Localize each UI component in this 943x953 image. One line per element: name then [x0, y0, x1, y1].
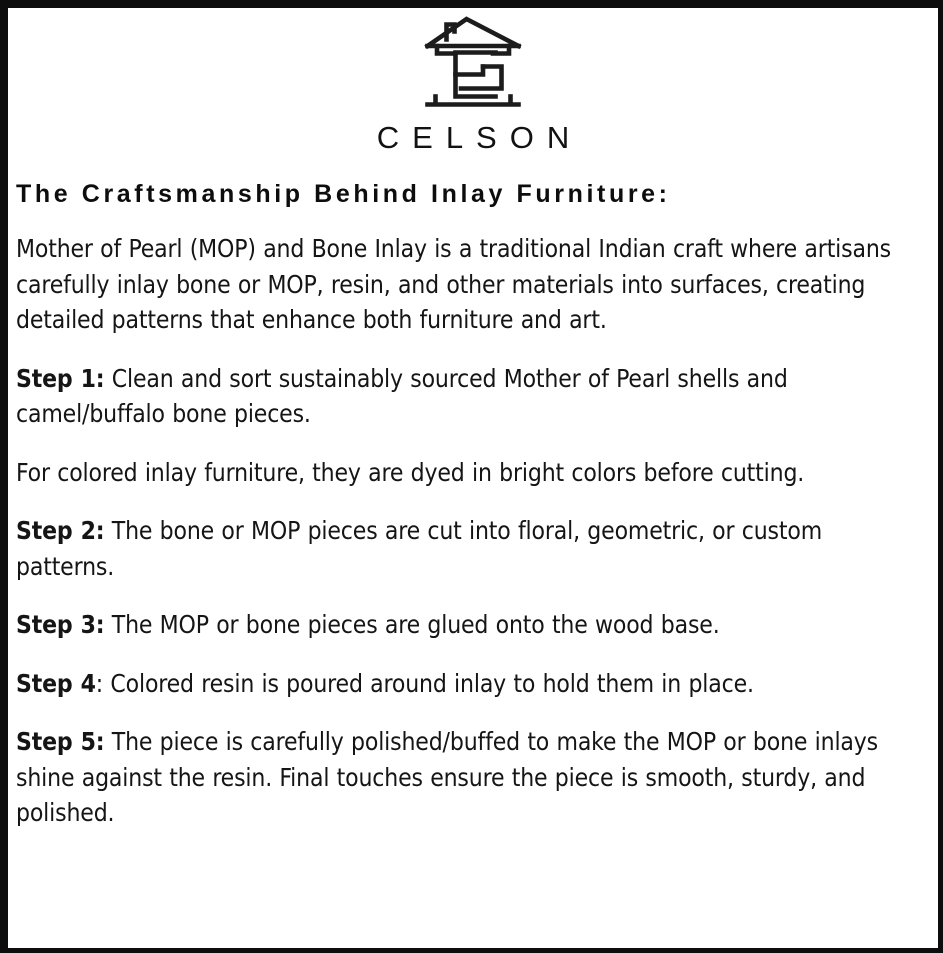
poster-root: CELSON The Craftsmanship Behind Inlay Fu… — [0, 0, 943, 953]
step-3-label: Step 3: — [16, 610, 104, 639]
paragraph-step-1: Step 1: Clean and sort sustainably sourc… — [16, 361, 908, 432]
body-copy: Mother of Pearl (MOP) and Bone Inlay is … — [8, 231, 938, 831]
paragraph-step-3: Step 3: The MOP or bone pieces are glued… — [16, 607, 908, 643]
step-2-text: The bone or MOP pieces are cut into flor… — [16, 516, 822, 581]
paragraph-intro: Mother of Pearl (MOP) and Bone Inlay is … — [16, 231, 908, 338]
house-monogram-logo-icon — [421, 14, 525, 116]
step-4-text: : Colored resin is poured around inlay t… — [96, 669, 754, 698]
page-title: The Craftsmanship Behind Inlay Furniture… — [8, 179, 938, 209]
step-5-label: Step 5: — [16, 727, 104, 756]
frame-border-top — [0, 0, 943, 8]
step-4-label: Step 4 — [16, 669, 96, 698]
paragraph-step-5: Step 5: The piece is carefully polished/… — [16, 724, 908, 831]
paragraph-step-4: Step 4: Colored resin is poured around i… — [16, 666, 908, 702]
paragraph-color-note: For colored inlay furniture, they are dy… — [16, 455, 908, 491]
step-1-label: Step 1: — [16, 364, 104, 393]
brand-name: CELSON — [8, 122, 938, 153]
step-5-text: The piece is carefully polished/buffed t… — [16, 727, 878, 827]
frame-border-left — [0, 0, 8, 953]
frame-border-bottom — [0, 948, 943, 953]
step-2-label: Step 2: — [16, 516, 104, 545]
step-1-text: Clean and sort sustainably sourced Mothe… — [16, 364, 788, 429]
frame-border-right — [938, 0, 943, 953]
brand-block: CELSON — [8, 8, 938, 153]
step-3-text: The MOP or bone pieces are glued onto th… — [104, 610, 719, 639]
poster-content: CELSON The Craftsmanship Behind Inlay Fu… — [8, 8, 938, 948]
paragraph-step-2: Step 2: The bone or MOP pieces are cut i… — [16, 513, 908, 584]
